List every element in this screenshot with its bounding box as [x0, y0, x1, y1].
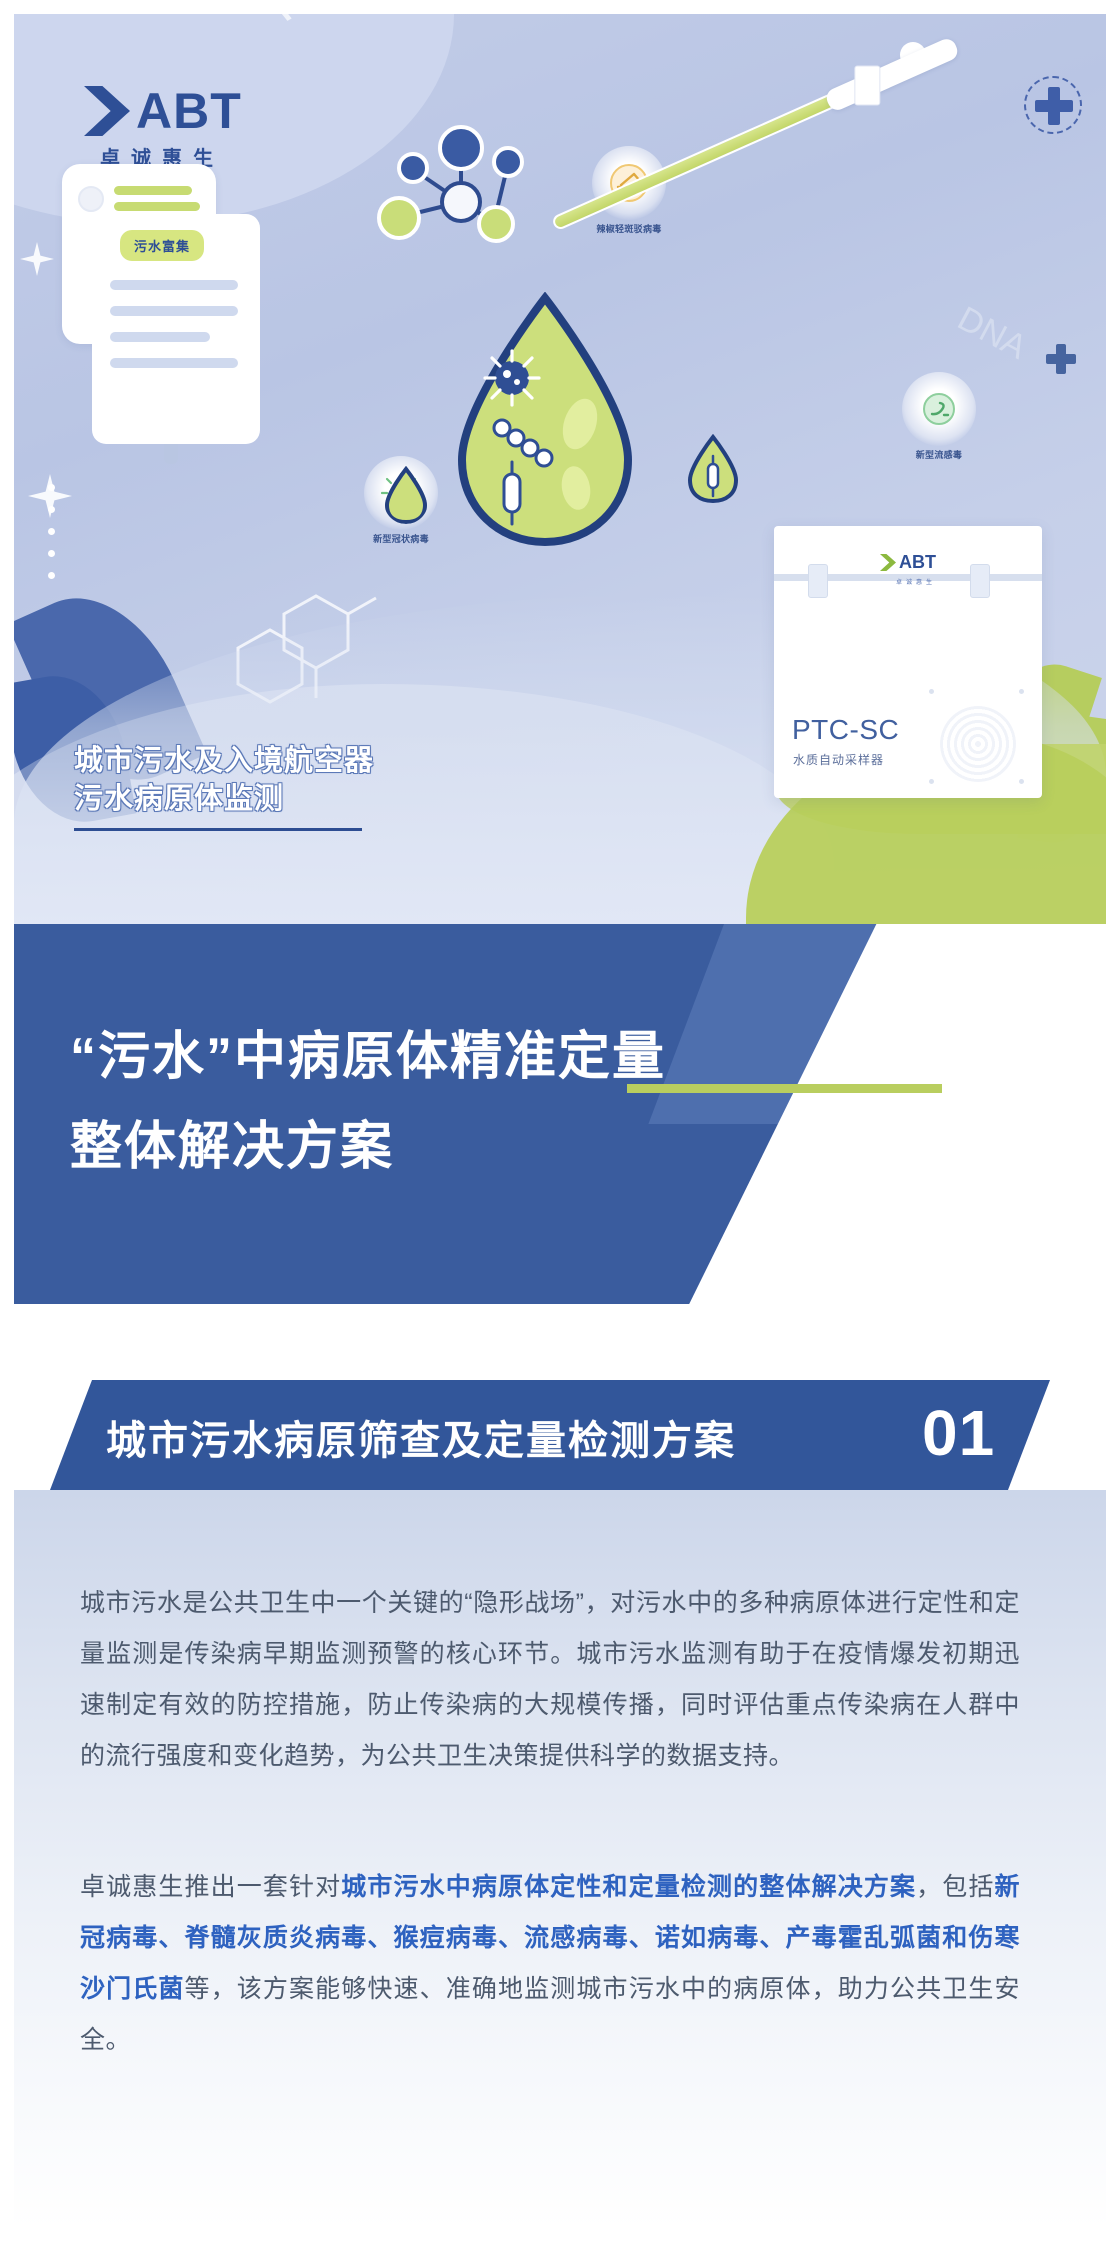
plus-icon [1046, 344, 1076, 374]
device-brand-cn: 卓诚惠生 [790, 577, 1042, 586]
virus-label: 辣椒轻斑驳病毒 [592, 222, 666, 235]
text-line-decor [110, 306, 238, 316]
paragraph2-seg2: ，包括 [916, 1873, 994, 1901]
molecule-icon [366, 124, 556, 264]
water-droplet-icon [452, 292, 638, 548]
device-brand-logo: ABT 卓诚惠生 [774, 552, 1042, 586]
text-line-decor [114, 186, 192, 195]
main-title-line2: 整体解决方案 [70, 1104, 394, 1179]
device-screw-decor [929, 779, 934, 784]
brand-logo: ABT 卓诚惠生 [84, 86, 242, 171]
hero-title-rule [74, 828, 362, 831]
dot-column-decor [48, 484, 55, 579]
influenza-virus-icon [919, 389, 959, 429]
section-paragraph-2: 卓诚惠生推出一套针对城市污水中病原体定性和定量检测的整体解决方案，包括新冠病毒、… [80, 1862, 1020, 2066]
section-header-band: 城市污水病原筛查及定量检测方案 01 [14, 1380, 1106, 1490]
section-title: 城市污水病原筛查及定量检测方案 [106, 1408, 736, 1466]
main-title-line1: “污水”中病原体精准定量 [70, 1014, 666, 1089]
x-mark-icon [84, 86, 130, 136]
device-screw-decor [929, 689, 934, 694]
swab-tip [824, 36, 961, 113]
document-sheet-icon: 污水富集 [92, 214, 260, 444]
title-underline-accent [627, 1084, 942, 1093]
virus-glow-decor [902, 372, 976, 446]
device-screw-decor [1019, 689, 1024, 694]
text-line-decor [110, 332, 210, 342]
brand-logo-text: ABT [136, 86, 242, 136]
avatar-placeholder-icon [78, 186, 104, 212]
device-screw-decor [1019, 779, 1024, 784]
section-paragraph-1: 城市污水是公共卫生中一个关键的“隐形战场”，对污水中的多种病原体进行定性和定量监… [80, 1578, 1020, 1782]
swab-band [854, 65, 880, 105]
paragraph2-seg3: 等，该方案能够快速、准确地监测城市污水中的病原体，助力公共卫生安全。 [80, 1975, 1020, 2054]
wastewater-enrichment-tag: 污水富集 [120, 230, 204, 261]
device-brand-text: ABT [899, 552, 936, 573]
dna-helix-icon: DNA [951, 299, 1033, 367]
influenza-virus-badge: 新型流感毒 [902, 372, 976, 461]
device-fan-decor [940, 706, 1016, 782]
poster-page: ABT 卓诚惠生 污水富集 [0, 0, 1120, 2242]
paragraph2-highlight-1: 城市污水中病原体定性和定量检测的整体解决方案 [341, 1873, 916, 1901]
ptc-sc-device: ABT 卓诚惠生 PTC-SC 水质自动采样器 [774, 526, 1042, 798]
water-droplet-small-icon [686, 434, 740, 504]
device-model-name: PTC-SC [792, 714, 899, 746]
swab-icon [550, 40, 952, 235]
text-line-decor [110, 280, 238, 290]
plus-icon [1035, 87, 1073, 125]
x-mark-icon [880, 554, 896, 571]
hero-title-line2: 污水病原体监测 [74, 780, 374, 818]
device-model-sub: 水质自动采样器 [793, 751, 884, 768]
section-number: 01 [922, 1396, 995, 1470]
virus-label: 新型流感毒 [902, 448, 976, 461]
hero-title: 城市污水及入境航空器 污水病原体监测 [74, 742, 374, 818]
hero-title-line1: 城市污水及入境航空器 [74, 742, 374, 780]
paragraph2-seg1: 卓诚惠生推出一套针对 [80, 1873, 341, 1901]
text-line-decor [114, 202, 200, 211]
text-line-decor [110, 358, 238, 368]
virus-label: 新型冠状病毒 [364, 532, 438, 545]
